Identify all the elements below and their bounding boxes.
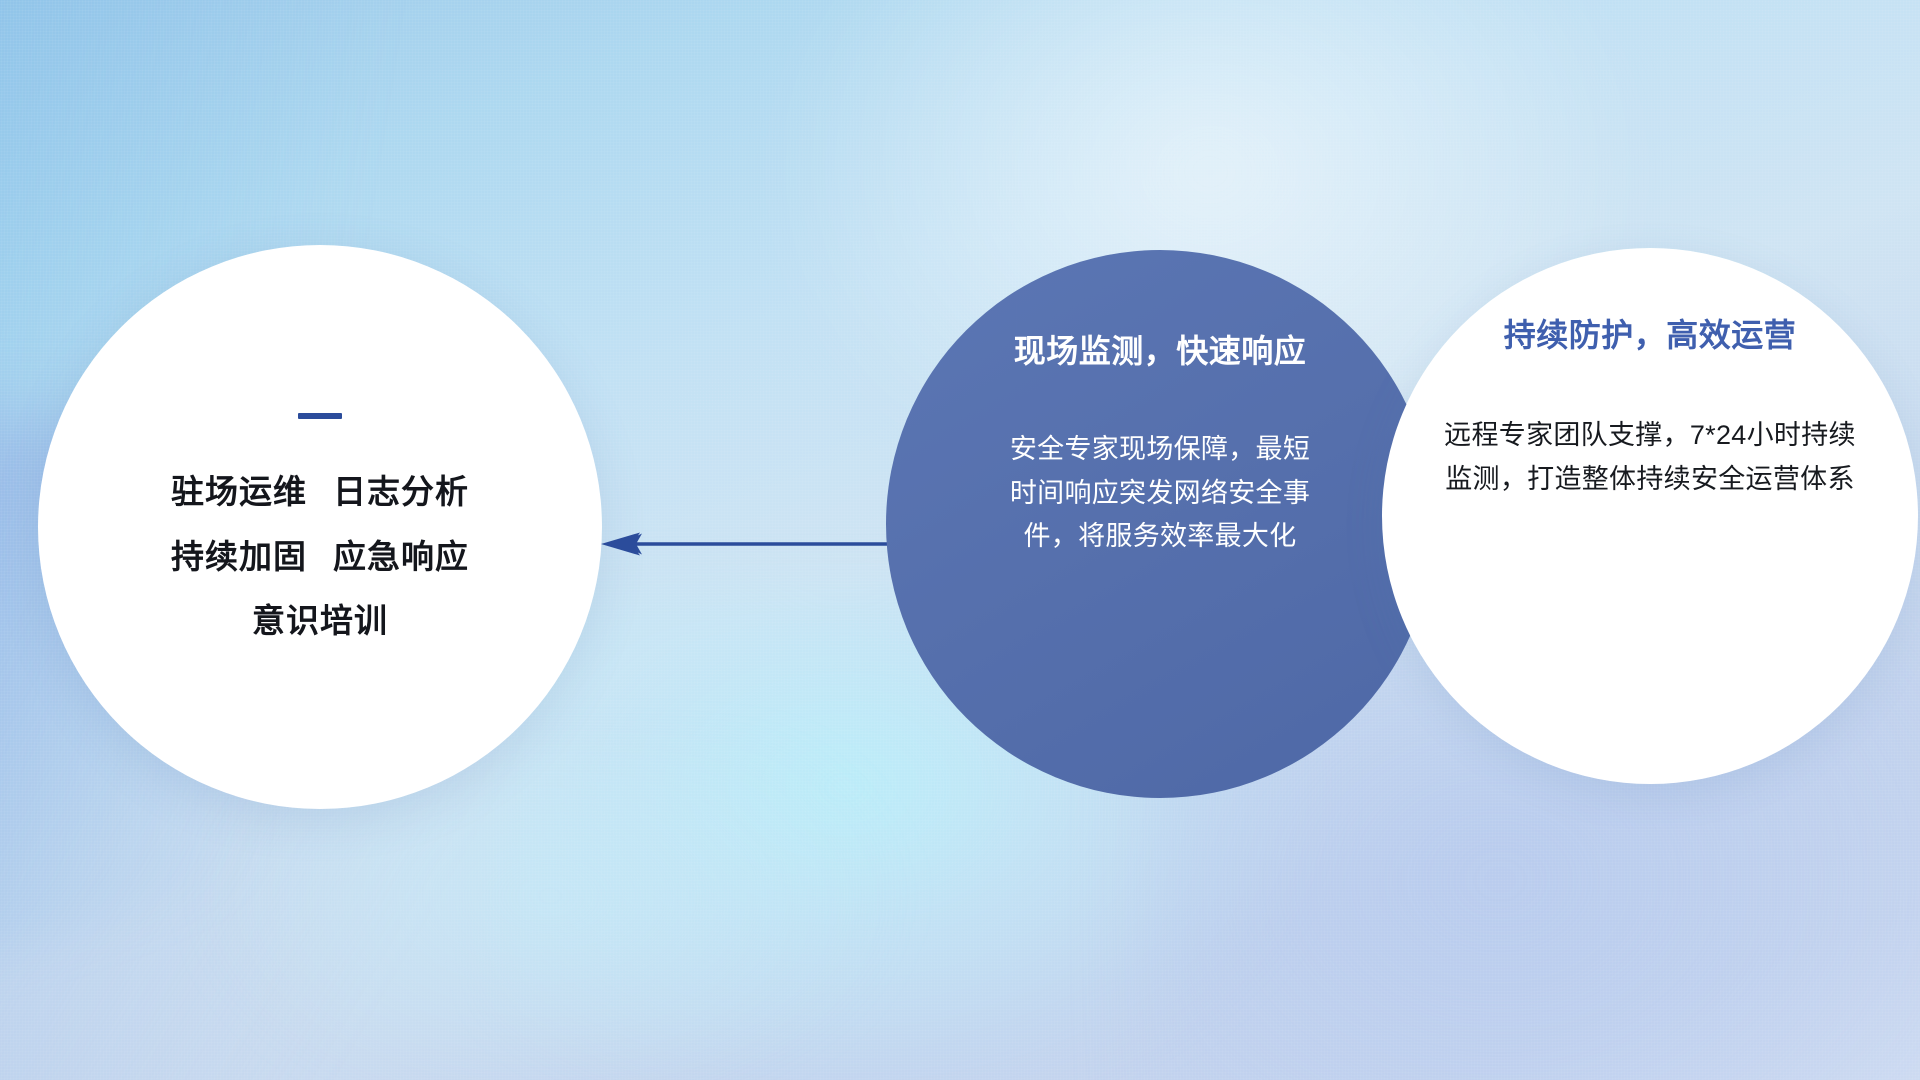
capability-row-1: 驻场运维日志分析 [171, 473, 469, 512]
capability-onsite-ops: 驻场运维 [171, 473, 307, 510]
capability-awareness-training: 意识培训 [252, 602, 388, 639]
diagram-stage: 驻场运维日志分析 持续加固应急响应 意识培训 现场监测，快速响应 安全专家现场保… [0, 0, 1920, 1080]
middle-circle-body: 安全专家现场保障，最短时间响应突发网络安全事件，将服务效率最大化 [1005, 428, 1315, 559]
horizontal-dash-icon [298, 413, 342, 419]
capability-emergency-response: 应急响应 [333, 538, 469, 575]
middle-circle-content: 现场监测，快速响应 安全专家现场保障，最短时间响应突发网络安全事件，将服务效率最… [886, 250, 1434, 798]
left-circle-content: 驻场运维日志分析 持续加固应急响应 意识培训 [38, 245, 602, 809]
left-capability-circle[interactable]: 驻场运维日志分析 持续加固应急响应 意识培训 [38, 245, 602, 809]
capability-row-3: 意识培训 [252, 602, 388, 641]
right-circle-content: 持续防护，高效运营 远程专家团队支撑，7*24小时持续监测，打造整体持续安全运营… [1382, 248, 1918, 784]
onsite-monitoring-circle[interactable]: 现场监测，快速响应 安全专家现场保障，最短时间响应突发网络安全事件，将服务效率最… [886, 250, 1434, 798]
right-circle-body: 远程专家团队支撑，7*24小时持续监测，打造整体持续安全运营体系 [1435, 414, 1865, 501]
continuous-protection-circle[interactable]: 持续防护，高效运营 远程专家团队支撑，7*24小时持续监测，打造整体持续安全运营… [1382, 248, 1918, 784]
capability-log-analysis: 日志分析 [333, 473, 469, 510]
connector-arrow [598, 524, 898, 564]
right-circle-title: 持续防护，高效运营 [1504, 310, 1797, 356]
middle-circle-title: 现场监测，快速响应 [1014, 326, 1307, 372]
capability-continuous-hardening: 持续加固 [171, 538, 307, 575]
arrow-left-icon [598, 524, 898, 564]
capability-row-2: 持续加固应急响应 [171, 538, 469, 577]
